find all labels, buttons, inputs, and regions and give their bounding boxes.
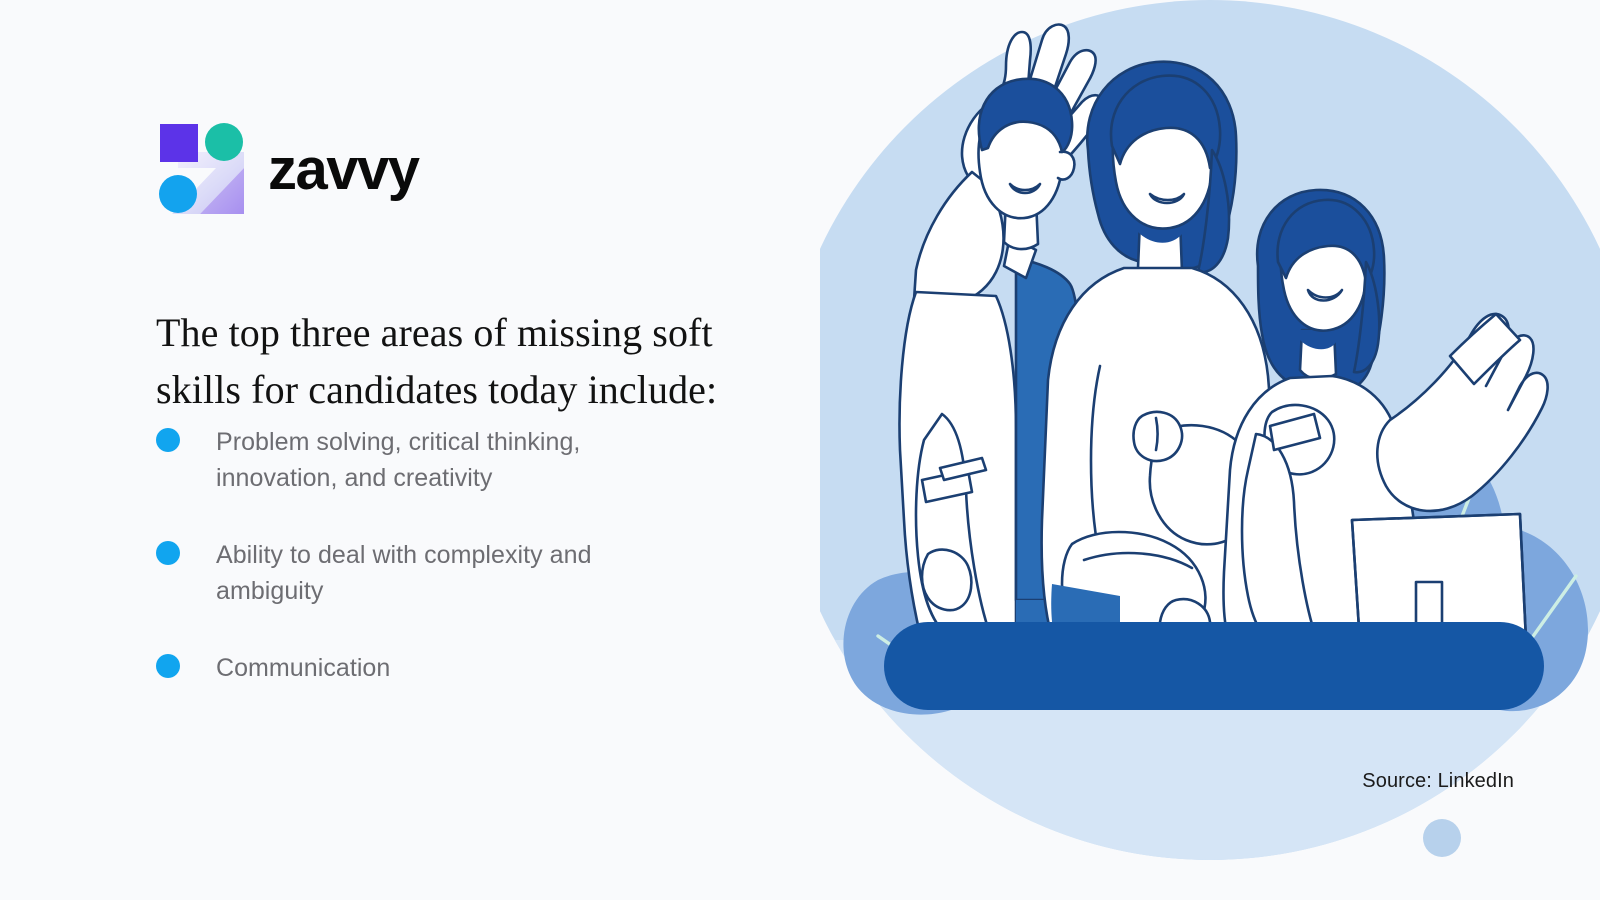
illustration-panel: Source: LinkedIn [820, 0, 1600, 900]
list-item-label: Problem solving, critical thinking, inno… [216, 425, 676, 496]
team-celebrating-illustration [820, 0, 1600, 900]
list-item-label: Ability to deal with complexity and ambi… [216, 538, 676, 609]
zavvy-logo-icon [156, 122, 244, 214]
bullet-dot-icon [156, 541, 180, 565]
list-item: Communication [156, 651, 676, 687]
brand-logo[interactable]: zavvy [156, 122, 419, 214]
list-item-label: Communication [216, 651, 390, 687]
bullet-dot-icon [156, 428, 180, 452]
zavvy-wordmark: zavvy [268, 141, 419, 199]
soft-skills-list: Problem solving, critical thinking, inno… [156, 425, 676, 687]
bullet-dot-icon [156, 654, 180, 678]
source-note: Source: LinkedIn [1362, 770, 1514, 793]
list-item: Ability to deal with complexity and ambi… [156, 538, 676, 609]
list-item: Problem solving, critical thinking, inno… [156, 425, 676, 496]
content-column: zavvy The top three areas of missing sof… [156, 0, 796, 900]
desk-bar [884, 622, 1544, 710]
page-title: The top three areas of missing soft skil… [156, 305, 776, 419]
accent-dot [1423, 819, 1461, 857]
